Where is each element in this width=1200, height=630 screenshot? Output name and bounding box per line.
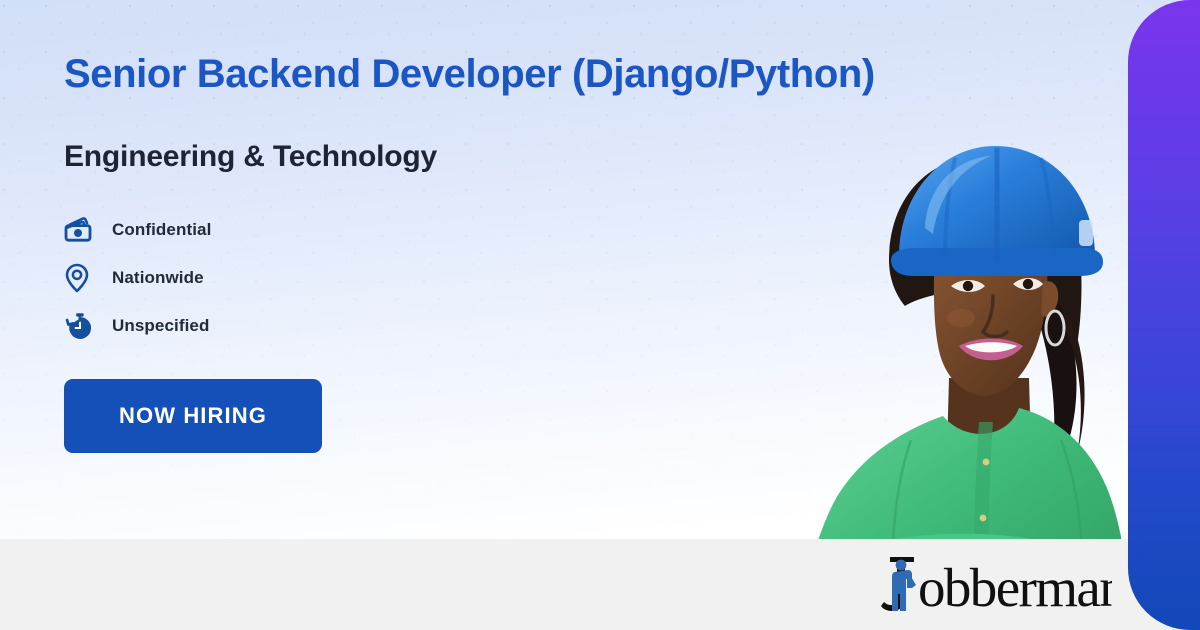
banner-content: Senior Backend Developer (Django/Python)… <box>64 52 1054 453</box>
svg-text:obberman: obberman <box>918 557 1112 617</box>
meta-label-job-type: Unspecified <box>112 316 209 336</box>
job-meta-list: Confidential Nationwide <box>64 210 1054 346</box>
meta-row-location: Nationwide <box>64 258 1054 298</box>
meta-label-salary: Confidential <box>112 220 211 240</box>
jobberman-logo: obberman <box>870 555 1112 617</box>
meta-row-job-type: Unspecified <box>64 306 1054 346</box>
side-accent-panel <box>1128 0 1200 630</box>
page-title: Senior Backend Developer (Django/Python) <box>64 52 1054 98</box>
stopwatch-icon <box>64 312 98 340</box>
job-banner: Senior Backend Developer (Django/Python)… <box>0 0 1200 630</box>
job-category: Engineering & Technology <box>64 140 1054 174</box>
location-icon <box>64 263 98 293</box>
now-hiring-button[interactable]: NOW HIRING <box>64 379 322 453</box>
meta-label-location: Nationwide <box>112 268 204 288</box>
money-icon <box>64 216 98 244</box>
meta-row-salary: Confidential <box>64 210 1054 250</box>
